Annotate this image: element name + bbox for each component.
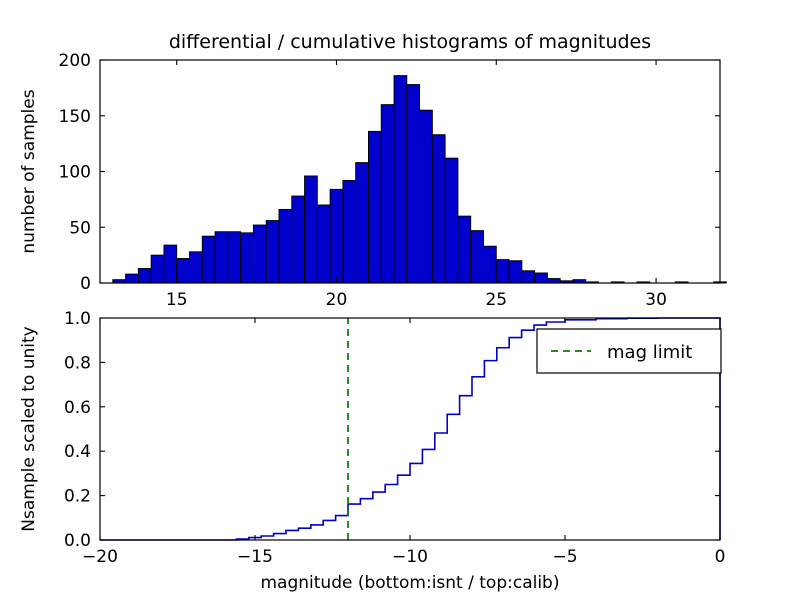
legend[interactable]: mag limit bbox=[537, 329, 721, 373]
top-x-tick-label: 20 bbox=[326, 290, 348, 310]
bottom-x-tick-label: −15 bbox=[237, 547, 273, 567]
histogram-bar bbox=[330, 189, 343, 283]
histogram-bar bbox=[547, 279, 560, 283]
bottom-x-tick-label: −5 bbox=[552, 547, 577, 567]
bottom-y-tick-label: 0.4 bbox=[64, 442, 91, 462]
bottom-x-tick-label: −10 bbox=[392, 547, 428, 567]
bottom-y-tick-label: 0.8 bbox=[64, 353, 91, 373]
histogram-bar bbox=[292, 196, 305, 283]
histogram-bar bbox=[496, 260, 509, 283]
histogram-bar bbox=[215, 232, 228, 283]
histogram-bar bbox=[164, 245, 177, 283]
histogram-bar bbox=[241, 233, 254, 283]
histogram-bar bbox=[471, 231, 484, 283]
histogram-bar bbox=[177, 258, 190, 283]
histogram-bar bbox=[432, 135, 445, 283]
histogram-bar bbox=[189, 252, 202, 283]
top-y-tick-label: 100 bbox=[59, 163, 91, 183]
histogram-bar bbox=[202, 236, 215, 283]
histogram-bar bbox=[509, 261, 522, 283]
histogram-bar bbox=[484, 246, 497, 283]
histogram-bar bbox=[458, 216, 471, 283]
top-y-tick-label: 150 bbox=[59, 107, 91, 127]
histogram-bar bbox=[445, 158, 458, 283]
figure-canvas: differential / cumulative histograms of … bbox=[0, 0, 800, 600]
bottom-y-tick-label: 0.6 bbox=[64, 398, 91, 418]
histogram-bar bbox=[407, 85, 420, 283]
top-x-tick-label: 25 bbox=[485, 290, 507, 310]
histogram-bar bbox=[126, 274, 139, 283]
top-y-axis-label: number of samples bbox=[19, 89, 39, 253]
histogram-bar bbox=[394, 76, 407, 283]
histogram-bar bbox=[266, 221, 279, 283]
matplotlib-figure: differential / cumulative histograms of … bbox=[0, 0, 800, 600]
bottom-y-tick-label: 1.0 bbox=[64, 309, 91, 329]
histogram-bar bbox=[343, 180, 356, 283]
histogram-bar bbox=[522, 271, 535, 283]
histogram-bar bbox=[253, 225, 266, 283]
histogram-bar bbox=[228, 232, 241, 283]
histogram-bar bbox=[368, 131, 381, 283]
histogram-bar bbox=[151, 255, 164, 283]
top-y-tick-label: 50 bbox=[69, 218, 91, 238]
histogram-bar bbox=[356, 163, 369, 283]
bottom-y-tick-label: 0.2 bbox=[64, 487, 91, 507]
histogram-bar bbox=[279, 209, 292, 283]
bottom-x-axis-label: magnitude (bottom:isnt / top:calib) bbox=[261, 573, 560, 593]
top-y-tick-label: 0 bbox=[80, 274, 91, 294]
top-x-tick-label: 15 bbox=[166, 290, 188, 310]
page-title: differential / cumulative histograms of … bbox=[169, 31, 651, 53]
histogram-bar bbox=[381, 105, 394, 283]
histogram-bar bbox=[420, 110, 433, 283]
bottom-y-tick-label: 0.0 bbox=[64, 531, 91, 551]
histogram-bar bbox=[317, 205, 330, 283]
top-x-tick-label: 30 bbox=[645, 290, 667, 310]
top-y-tick-label: 200 bbox=[59, 51, 91, 71]
legend-entry-label: mag limit bbox=[607, 342, 692, 363]
histogram-bar bbox=[535, 273, 548, 283]
histogram-bar bbox=[305, 176, 318, 283]
bottom-y-axis-label: Nsample scaled to unity bbox=[19, 326, 39, 531]
histogram-bar bbox=[138, 269, 151, 284]
bottom-x-tick-label: 0 bbox=[715, 547, 726, 567]
